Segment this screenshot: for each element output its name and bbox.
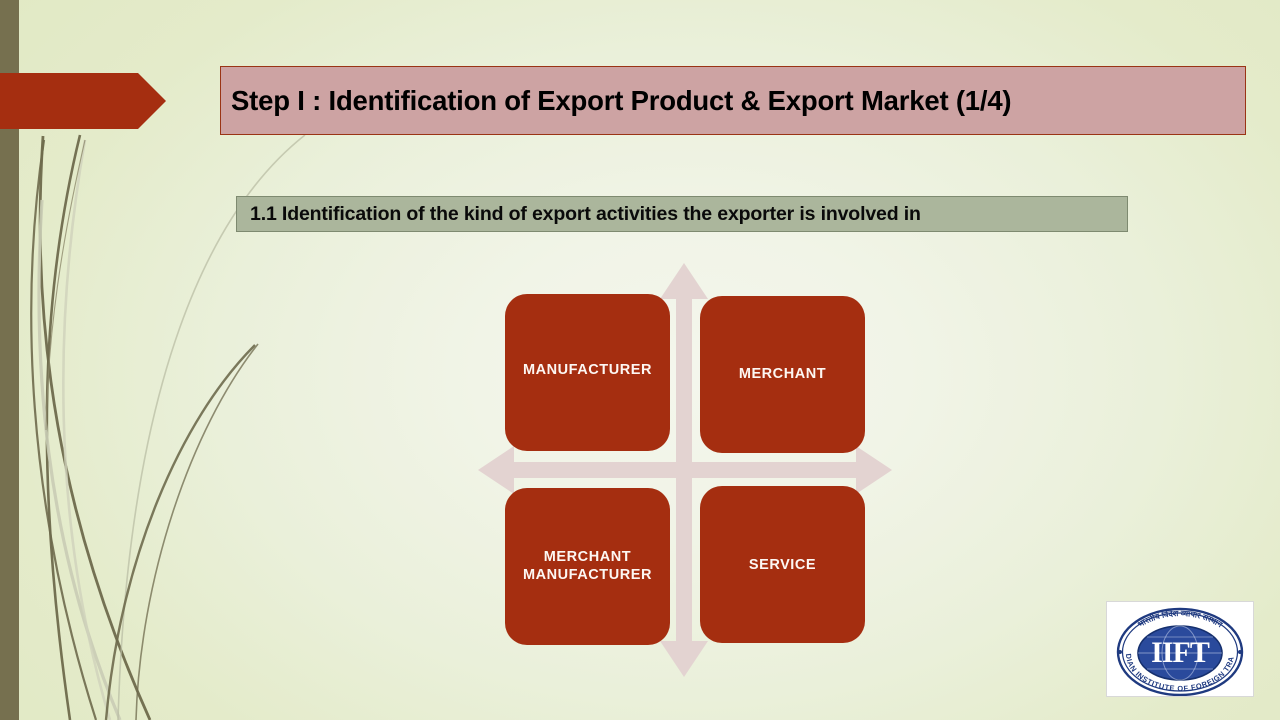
iift-logo-graphic: IIFT भारतीय विदेश व्यापार संस्थान INDIAN… bbox=[1107, 602, 1253, 696]
quadrant-diagram: MANUFACTURER MERCHANT MERCHANT MANUFACTU… bbox=[470, 255, 900, 685]
red-chevron-tab bbox=[0, 73, 166, 129]
slide-subtitle-bar: 1.1 Identification of the kind of export… bbox=[236, 196, 1128, 232]
quadrant-label: MERCHANT MANUFACTURER bbox=[523, 549, 652, 584]
quadrant-merchant-manufacturer[interactable]: MERCHANT MANUFACTURER bbox=[505, 488, 670, 645]
quadrant-merchant[interactable]: MERCHANT bbox=[700, 296, 865, 453]
iift-logo: IIFT भारतीय विदेश व्यापार संस्थान INDIAN… bbox=[1106, 601, 1254, 697]
subtitle-text: 1.1 Identification of the kind of export… bbox=[250, 203, 921, 226]
quadrant-label: SERVICE bbox=[749, 557, 816, 575]
quadrant-label-line1: MERCHANT bbox=[544, 549, 631, 565]
quadrant-label: MERCHANT bbox=[739, 366, 826, 384]
quadrant-label-line2: MANUFACTURER bbox=[523, 567, 652, 583]
svg-text:IIFT: IIFT bbox=[1151, 636, 1210, 669]
quadrant-manufacturer[interactable]: MANUFACTURER bbox=[505, 294, 670, 451]
slide-title-bar: Step I : Identification of Export Produc… bbox=[220, 66, 1246, 135]
quadrant-service[interactable]: SERVICE bbox=[700, 486, 865, 643]
page-title: Step I : Identification of Export Produc… bbox=[231, 85, 1011, 117]
slide-canvas: Step I : Identification of Export Produc… bbox=[0, 0, 1280, 720]
quadrant-label: MANUFACTURER bbox=[523, 362, 652, 380]
